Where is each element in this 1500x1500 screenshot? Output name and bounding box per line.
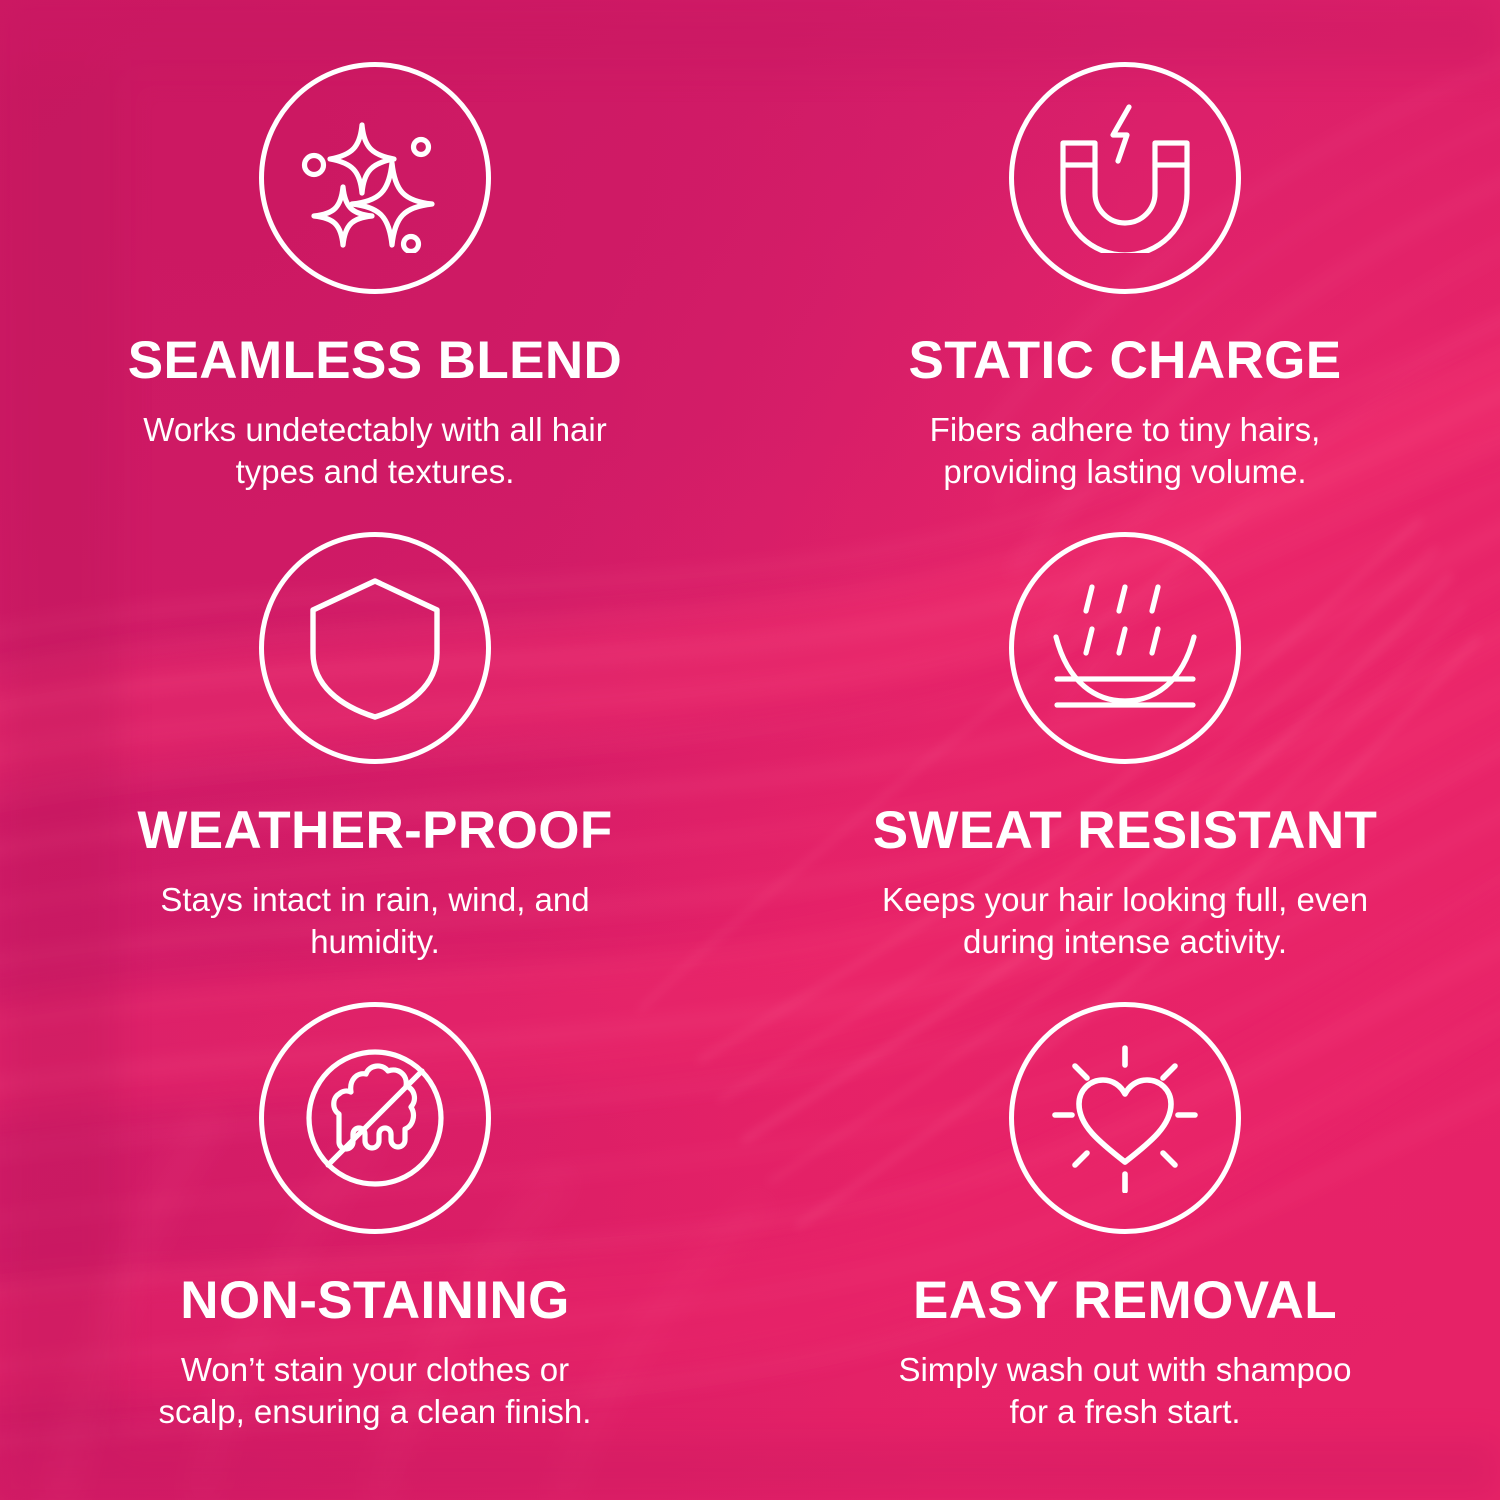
feature-card-static-charge: STATIC CHARGE Fibers adhere to tiny hair… xyxy=(750,62,1500,532)
shield-icon xyxy=(300,573,450,723)
feature-description: Simply wash out with shampoo for a fresh… xyxy=(875,1349,1375,1433)
feature-description: Works undetectably with all hair types a… xyxy=(135,409,615,493)
icon-ring-static-charge xyxy=(1009,62,1241,294)
feature-card-non-staining: NON-STAINING Won’t stain your clothes or… xyxy=(0,1002,750,1472)
feature-card-easy-removal: EASY REMOVAL Simply wash out with shampo… xyxy=(750,1002,1500,1472)
icon-ring-non-staining xyxy=(259,1002,491,1234)
sparkle-icon xyxy=(300,103,450,253)
no-stain-icon xyxy=(299,1042,451,1194)
feature-description: Fibers adhere to tiny hairs, providing l… xyxy=(875,409,1375,493)
feature-title: STATIC CHARGE xyxy=(908,334,1341,387)
icon-ring-easy-removal xyxy=(1009,1002,1241,1234)
feature-description: Keeps your hair looking full, even durin… xyxy=(875,879,1375,963)
feature-description: Stays intact in rain, wind, and humidity… xyxy=(135,879,615,963)
feature-title: WEATHER-PROOF xyxy=(137,804,612,857)
heart-rays-icon xyxy=(1050,1043,1200,1193)
feature-card-sweat-resistant: SWEAT RESISTANT Keeps your hair looking … xyxy=(750,532,1500,1002)
icon-ring-sweat-resistant xyxy=(1009,532,1241,764)
feature-title: SWEAT RESISTANT xyxy=(873,804,1378,857)
feature-card-seamless-blend: SEAMLESS BLEND Works undetectably with a… xyxy=(0,62,750,532)
feature-grid: SEAMLESS BLEND Works undetectably with a… xyxy=(0,0,1500,1500)
icon-ring-weather-proof xyxy=(259,532,491,764)
feature-title: EASY REMOVAL xyxy=(913,1274,1337,1327)
feature-card-weather-proof: WEATHER-PROOF Stays intact in rain, wind… xyxy=(0,532,750,1002)
magnet-lightning-icon xyxy=(1050,103,1200,253)
feature-title: NON-STAINING xyxy=(180,1274,570,1327)
feature-description: Won’t stain your clothes or scalp, ensur… xyxy=(135,1349,615,1433)
icon-ring-seamless-blend xyxy=(259,62,491,294)
feature-title: SEAMLESS BLEND xyxy=(128,334,622,387)
water-repellent-icon xyxy=(1050,573,1200,723)
